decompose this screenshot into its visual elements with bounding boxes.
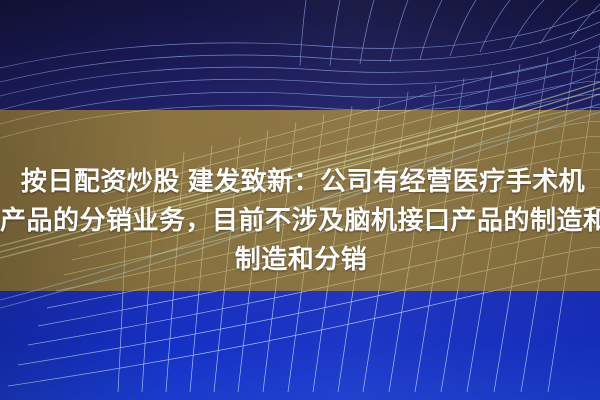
background-band-navy: [0, 0, 600, 110]
headline-line-2: 产品的分销业务，目前不涉及脑机接口产品的制造和: [0, 201, 600, 240]
headline-text: 按日配资炒股 建发致新：公司有经营医疗手术机 产品的分销业务，目前不涉及脑机接口…: [0, 162, 600, 279]
news-banner-image: 按日配资炒股 建发致新：公司有经营医疗手术机 产品的分销业务，目前不涉及脑机接口…: [0, 0, 600, 400]
headline-line-3: 制造和分销: [2, 240, 600, 279]
background-band-blue: [0, 291, 600, 400]
headline-line-1: 按日配资炒股 建发致新：公司有经营医疗手术机: [6, 162, 600, 201]
